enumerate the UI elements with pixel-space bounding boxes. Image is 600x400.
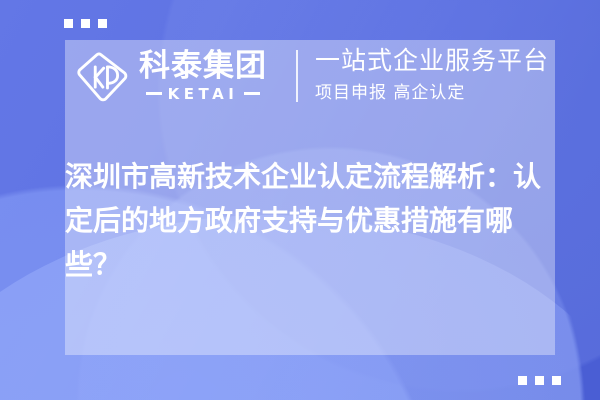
decor-square	[64, 19, 73, 28]
decor-squares-bottom-right	[518, 376, 561, 385]
brand-tagline-divider	[296, 50, 298, 102]
brand-lockup: 科泰集团 KETAI	[75, 46, 267, 108]
decor-square	[98, 19, 107, 28]
ketai-diamond-kp-monogram-icon	[75, 50, 129, 104]
brand-name-en: KETAI	[168, 85, 239, 103]
brand-rule-left	[146, 92, 162, 95]
brand-name-en-row: KETAI	[139, 85, 267, 103]
brand-rule-right	[244, 92, 260, 95]
decor-square	[552, 376, 561, 385]
tagline-main: 一站式企业服务平台	[315, 45, 565, 76]
decor-square	[518, 376, 527, 385]
decor-square	[81, 19, 90, 28]
brand-name-block: 科泰集团 KETAI	[139, 51, 267, 103]
brand-name-cn: 科泰集团	[139, 51, 267, 83]
decor-squares-top-left	[64, 19, 107, 28]
tagline-sub: 项目申报 高企认定	[315, 82, 565, 104]
tagline-block: 一站式企业服务平台 项目申报 高企认定	[315, 45, 565, 104]
banner-image: 科泰集团 KETAI 一站式企业服务平台 项目申报 高企认定 深圳市高新技术企业…	[0, 0, 600, 400]
decor-square	[535, 376, 544, 385]
page-title: 深圳市高新技术企业认定流程解析：认定后的地方政府支持与优惠措施有哪些？	[65, 155, 560, 288]
